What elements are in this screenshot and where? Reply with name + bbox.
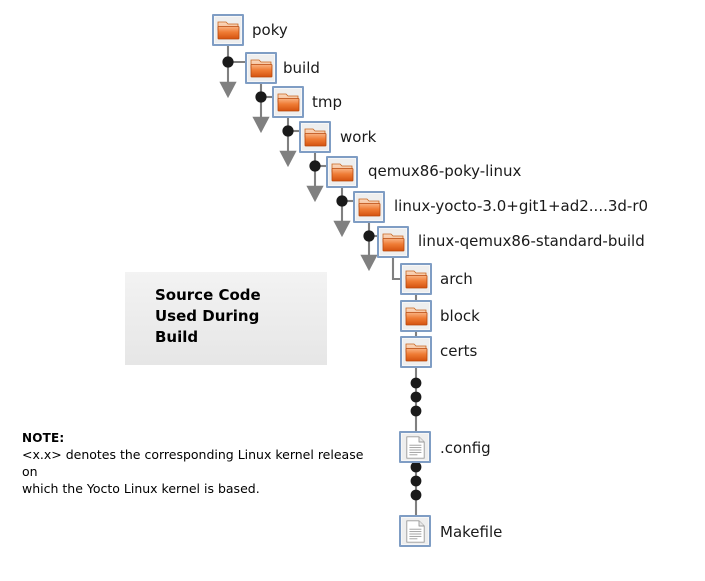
node-label-makefile: Makefile <box>440 524 502 541</box>
node-arch[interactable] <box>400 263 432 295</box>
node-label-linux-yocto: linux-yocto-3.0+git1+ad2....3d-r0 <box>394 198 648 215</box>
node-certs[interactable] <box>400 336 432 368</box>
node-label-block: block <box>440 308 480 325</box>
node-poky[interactable] <box>212 14 244 46</box>
note-body: <x.x> denotes the corresponding Linux ke… <box>22 446 382 497</box>
note-block: NOTE: <x.x> denotes the corresponding Li… <box>22 430 382 497</box>
node-label-arch: arch <box>440 271 473 288</box>
folder-icon <box>400 263 432 295</box>
folder-icon <box>400 300 432 332</box>
node-linux-yocto[interactable] <box>353 191 385 223</box>
node-label-qemux86-poky-linux: qemux86-poky-linux <box>368 163 521 180</box>
node-label-config: .config <box>440 440 491 457</box>
node-tmp[interactable] <box>272 86 304 118</box>
node-makefile[interactable] <box>399 515 431 547</box>
node-label-work: work <box>340 129 376 146</box>
folder-icon <box>326 156 358 188</box>
node-build[interactable] <box>245 52 277 84</box>
node-label-linux-qemux86-standard-build: linux-qemux86-standard-build <box>418 233 645 250</box>
node-label-certs: certs <box>440 343 477 360</box>
node-label-poky: poky <box>252 22 288 39</box>
folder-icon <box>299 121 331 153</box>
node-block[interactable] <box>400 300 432 332</box>
folder-icon <box>377 226 409 258</box>
document-icon <box>399 431 431 463</box>
note-title: NOTE: <box>22 430 382 446</box>
folder-icon <box>400 336 432 368</box>
folder-icon <box>272 86 304 118</box>
node-label-build: build <box>283 60 320 77</box>
node-work[interactable] <box>299 121 331 153</box>
document-icon <box>399 515 431 547</box>
source-code-callout: Source Code Used During Build <box>125 272 327 365</box>
folder-icon <box>245 52 277 84</box>
node-label-tmp: tmp <box>312 94 342 111</box>
folder-icon <box>353 191 385 223</box>
node-qemux86-poky-linux[interactable] <box>326 156 358 188</box>
source-code-callout-text: Source Code Used During Build <box>155 285 261 348</box>
node-linux-qemux86-standard-build[interactable] <box>377 226 409 258</box>
node-config[interactable] <box>399 431 431 463</box>
kernel-tree-diagram: poky build tmp work <box>0 0 705 581</box>
folder-icon <box>212 14 244 46</box>
